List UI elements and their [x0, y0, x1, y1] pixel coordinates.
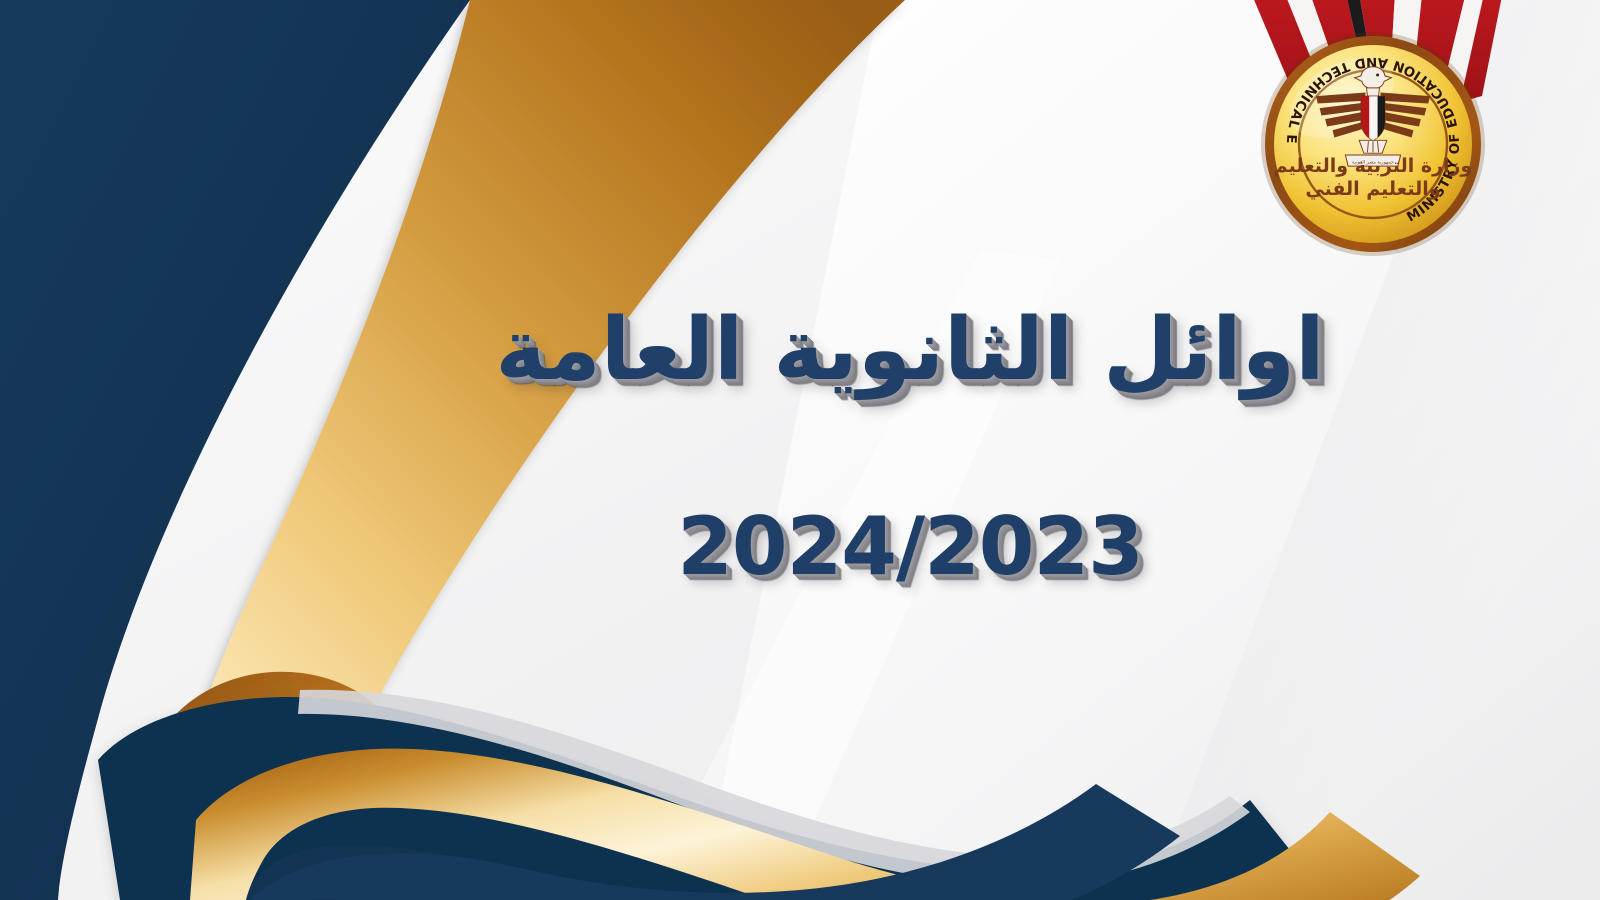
ministry-logo: MINISTRY OF EDUCATION AND TECHNICAL EDUC… [1238, 0, 1508, 276]
title-slide: اوائل الثانوية العامة 2024/2023 [0, 0, 1600, 900]
medal-arabic-line-2: والتعليم الفني [1305, 178, 1440, 200]
medal-arabic-line-1: وزارة التربية والتعليم [1274, 155, 1473, 177]
